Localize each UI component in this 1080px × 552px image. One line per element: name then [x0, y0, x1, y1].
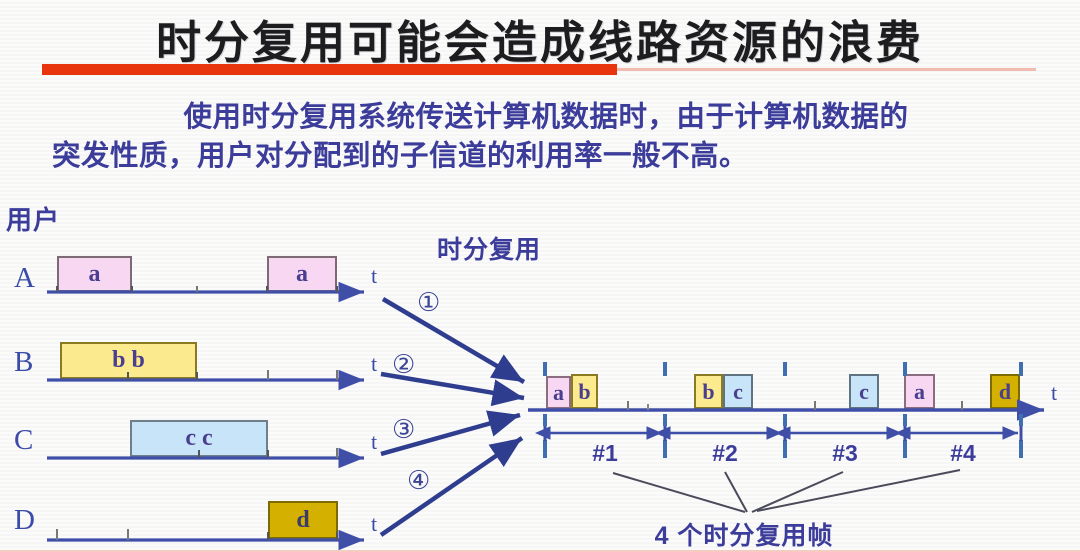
- caption-leader-lines: [613, 470, 960, 512]
- output-axis: [528, 401, 1044, 410]
- multiplexing-arrows: [381, 299, 524, 535]
- tdm-diagram: 用户 时分复用 4 个时分复用帧 A B C D t t t t t ① ② ③…: [0, 0, 1080, 552]
- row-a-axis: [47, 286, 364, 292]
- frame-span-arrows: [545, 426, 1021, 441]
- row-b-axis: [47, 370, 364, 380]
- row-d-axis: [47, 529, 364, 540]
- row-c-axis: [47, 448, 364, 458]
- diagram-vectors: [0, 0, 1080, 552]
